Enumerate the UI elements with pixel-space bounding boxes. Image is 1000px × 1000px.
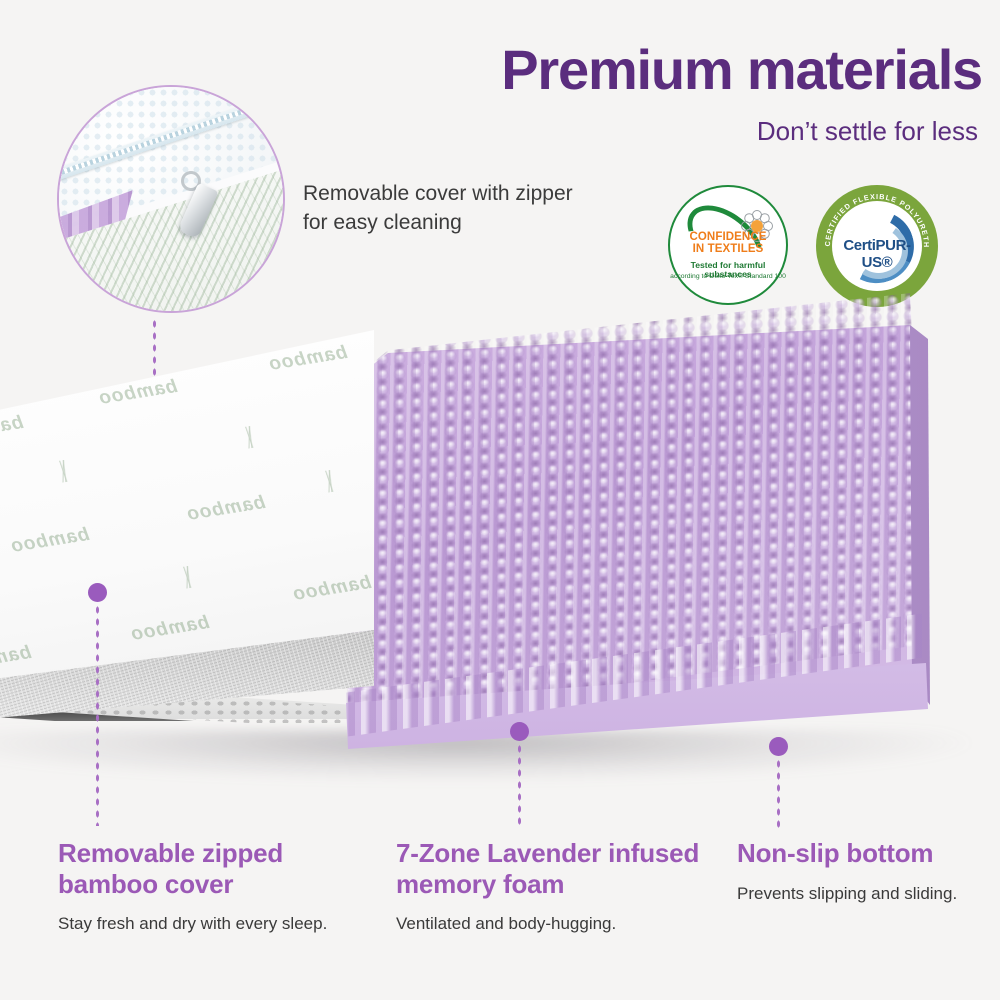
- certipur-inner-disc: CertiPUR-US®: [832, 201, 922, 291]
- cover-print-word: bamboo: [0, 642, 33, 676]
- cover-print-word: bamboo: [267, 342, 349, 376]
- caption-non-slip-bottom: Non-slip bottom Prevents slipping and sl…: [737, 838, 987, 905]
- cover-print-word: bamboo: [97, 376, 179, 410]
- page-subtitle: Don’t settle for less: [757, 118, 978, 144]
- bamboo-leaf-icon: [157, 561, 222, 592]
- oeko-headline-line1: CONFIDENCE: [689, 231, 766, 243]
- feature-captions: Removable zipped bamboo cover Stay fresh…: [0, 838, 1000, 968]
- cover-print-word: bamboo: [0, 412, 25, 446]
- caption-heading: Non-slip bottom: [737, 838, 987, 869]
- page-title: Premium materials: [501, 42, 982, 98]
- marker-memory-foam: [510, 722, 529, 741]
- memory-foam-slab: [340, 325, 940, 745]
- oeko-headline: CONFIDENCE IN TEXTILES: [670, 231, 786, 256]
- badge-certipur-us: CONTAINS CERTIFIED FLEXIBLE POLYURETHANE…: [816, 185, 938, 307]
- bamboo-leaf-icon: [299, 465, 364, 496]
- caption-bamboo-cover: Removable zipped bamboo cover Stay fresh…: [58, 838, 378, 935]
- caption-heading: Removable zipped bamboo cover: [58, 838, 378, 899]
- product-image: bamboo bamboo bamboo bamboo bamboo bambo…: [0, 325, 1000, 785]
- oeko-subline-2: according to Oeko-Tex® Standard 100: [670, 273, 786, 280]
- zipper-detail-photo: [57, 85, 285, 313]
- connector-line-bamboo-cover: [95, 604, 100, 826]
- marker-non-slip-bottom: [769, 737, 788, 756]
- caption-subtext: Stay fresh and dry with every sleep.: [58, 913, 378, 935]
- cover-print-word: bamboo: [291, 572, 373, 606]
- marker-bamboo-cover: [88, 583, 107, 602]
- caption-subtext: Ventilated and body-hugging.: [396, 913, 706, 935]
- connector-line-non-slip-bottom: [776, 758, 781, 828]
- caption-subtext: Prevents slipping and sliding.: [737, 883, 987, 905]
- zipper-callout-text: Removable cover with zipper for easy cle…: [303, 180, 573, 238]
- certification-badges: CONFIDENCE IN TEXTILES Tested for harmfu…: [668, 185, 958, 305]
- caption-heading: 7-Zone Lavender infused memory foam: [396, 838, 706, 899]
- cover-print-word: bamboo: [185, 492, 267, 526]
- oeko-headline-line2: IN TEXTILES: [693, 243, 764, 255]
- cover-print-word: bamboo: [129, 612, 211, 646]
- badge-oeko-tex: CONFIDENCE IN TEXTILES Tested for harmfu…: [668, 185, 788, 305]
- connector-line-memory-foam: [517, 743, 522, 827]
- certipur-wordmark: CertiPUR-US®: [832, 237, 922, 271]
- cover-print-word: bamboo: [9, 524, 91, 558]
- bamboo-leaf-icon: [219, 421, 284, 452]
- caption-memory-foam: 7-Zone Lavender infused memory foam Vent…: [396, 838, 706, 935]
- bamboo-cover-slab: bamboo bamboo bamboo bamboo bamboo bambo…: [0, 330, 390, 725]
- bamboo-leaf-icon: [33, 455, 98, 486]
- bamboo-leaf-icon: [0, 571, 23, 602]
